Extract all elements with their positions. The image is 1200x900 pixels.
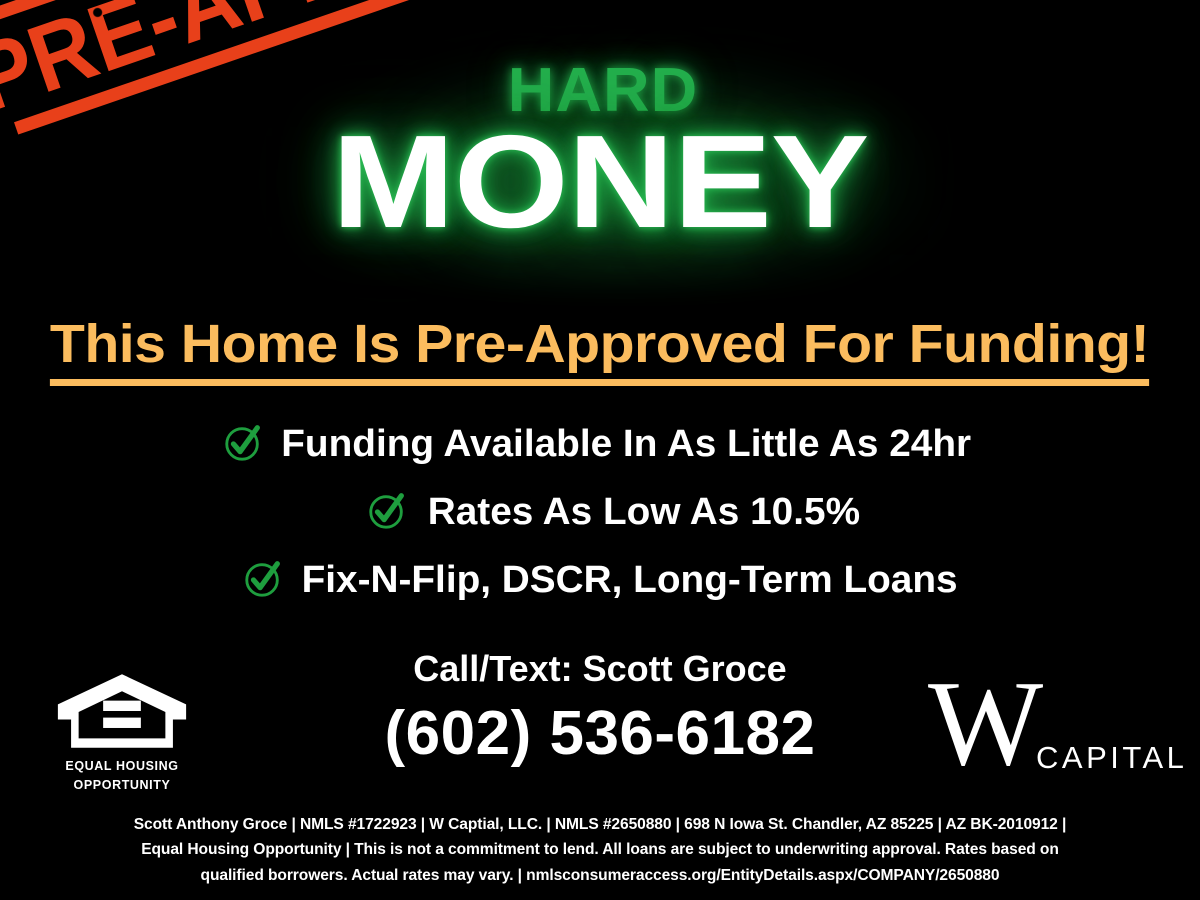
page-headline: This Home Is Pre-Approved For Funding! [0, 313, 1200, 386]
list-item: Fix-N-Flip, DSCR, Long-Term Loans [0, 546, 1200, 614]
check-circle-icon [222, 422, 264, 464]
equal-housing-label-line2: OPPORTUNITY [52, 778, 192, 793]
marketing-flyer: HARD MONEY PRE-APPROVED This Home Is Pre… [0, 0, 1200, 900]
check-circle-icon [242, 558, 284, 600]
list-item-label: Funding Available In As Little As 24hr [281, 423, 971, 466]
disclaimer-line-2: Equal Housing Opportunity | This is not … [34, 837, 1166, 862]
w-capital-wordmark: CAPITAL [1036, 740, 1187, 776]
disclaimer-line-3: qualified borrowers. Actual rates may va… [34, 863, 1166, 888]
list-item: Rates As Low As 10.5% [0, 478, 1200, 546]
page-headline-text: This Home Is Pre-Approved For Funding! [50, 313, 1149, 386]
w-capital-logo: W CAPITAL [928, 668, 1168, 788]
list-item: Funding Available In As Little As 24hr [0, 410, 1200, 478]
legal-disclaimer: Scott Anthony Groce | NMLS #1722923 | W … [34, 812, 1166, 888]
w-capital-monogram: W [928, 668, 1043, 780]
check-circle-icon [366, 490, 408, 532]
disclaimer-line-1: Scott Anthony Groce | NMLS #1722923 | W … [34, 812, 1166, 837]
equal-housing-opportunity-icon [52, 672, 192, 755]
stamp-rule-top [0, 0, 531, 32]
hero-title: HARD MONEY [0, 60, 1200, 248]
list-item-label: Fix-N-Flip, DSCR, Long-Term Loans [302, 559, 958, 602]
equal-housing-logo: EQUAL HOUSING OPPORTUNITY [52, 672, 192, 793]
hero-title-money: MONEY [0, 116, 1200, 248]
benefits-list: Funding Available In As Little As 24hr R… [0, 410, 1200, 614]
equal-housing-label-line1: EQUAL HOUSING [52, 759, 192, 774]
list-item-label: Rates As Low As 10.5% [428, 491, 860, 534]
